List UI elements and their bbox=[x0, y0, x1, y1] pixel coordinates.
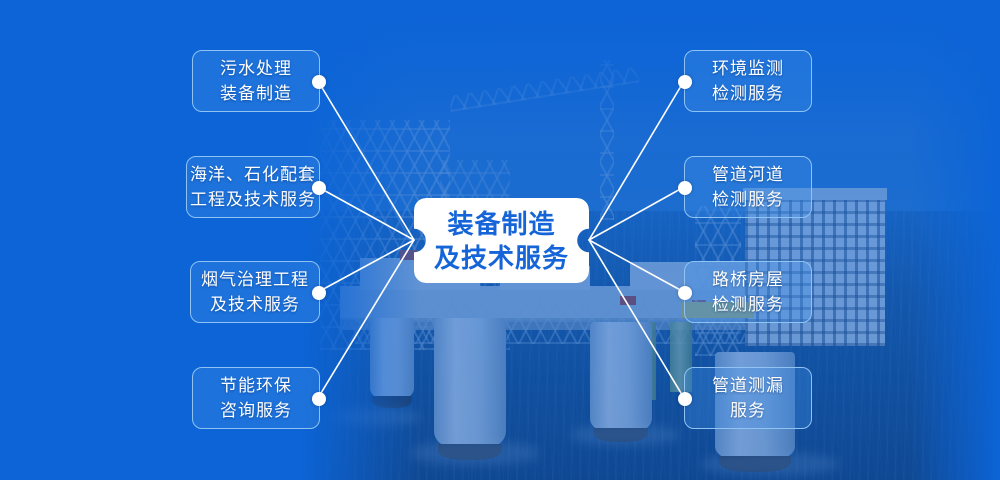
connector-knob-icon bbox=[678, 286, 692, 300]
center-label-line-2: 及技术服务 bbox=[434, 241, 569, 275]
node-label-line-2: 咨询服务 bbox=[220, 398, 292, 423]
connector-right-3 bbox=[589, 240, 684, 292]
connector-left-1 bbox=[318, 81, 414, 240]
node-label-line-1: 节能环保 bbox=[220, 373, 292, 398]
node-flue-gas-treatment[interactable]: 烟气治理工程 及技术服务 bbox=[190, 261, 320, 323]
infographic-stage: 污水处理 装备制造 海洋、石化配套 工程及技术服务 烟气治理工程 及技术服务 节… bbox=[0, 0, 1000, 480]
connector-left-2 bbox=[318, 187, 414, 240]
node-label-line-2: 检测服务 bbox=[712, 81, 784, 106]
node-wastewater-equipment[interactable]: 污水处理 装备制造 bbox=[192, 50, 320, 112]
node-label-line-1: 管道测漏 bbox=[712, 373, 784, 398]
node-label-line-2: 工程及技术服务 bbox=[190, 187, 316, 212]
connector-right-1 bbox=[589, 81, 684, 240]
node-pipeline-river-inspection[interactable]: 管道河道 检测服务 bbox=[684, 156, 812, 218]
center-node[interactable]: 装备制造 及技术服务 bbox=[414, 198, 589, 283]
node-bridge-building-inspection[interactable]: 路桥房屋 检测服务 bbox=[684, 261, 812, 323]
node-label-line-2: 检测服务 bbox=[712, 187, 784, 212]
node-label-line-1: 路桥房屋 bbox=[712, 267, 784, 292]
connector-left-4 bbox=[318, 240, 414, 398]
connector-knob-icon bbox=[312, 392, 326, 406]
node-label-line-1: 管道河道 bbox=[712, 162, 784, 187]
center-label-line-1: 装备制造 bbox=[447, 207, 555, 241]
center-node-text: 装备制造 及技术服务 bbox=[414, 198, 589, 283]
node-label-line-1: 环境监测 bbox=[712, 56, 784, 81]
connector-knob-icon bbox=[312, 75, 326, 89]
connector-knob-icon bbox=[312, 286, 326, 300]
connector-knob-icon bbox=[678, 75, 692, 89]
node-environmental-monitoring[interactable]: 环境监测 检测服务 bbox=[684, 50, 812, 112]
node-label-line-2: 检测服务 bbox=[712, 292, 784, 317]
node-label-line-1: 污水处理 bbox=[220, 56, 292, 81]
connector-right-4 bbox=[589, 240, 684, 398]
node-label-line-2: 装备制造 bbox=[220, 81, 292, 106]
node-label-line-1: 海洋、石化配套 bbox=[190, 162, 316, 187]
connector-knob-icon bbox=[678, 181, 692, 195]
node-pipeline-leak-detection[interactable]: 管道测漏 服务 bbox=[684, 367, 812, 429]
node-energy-saving-consulting[interactable]: 节能环保 咨询服务 bbox=[192, 367, 320, 429]
node-label-line-2: 及技术服务 bbox=[210, 292, 300, 317]
node-label-line-1: 烟气治理工程 bbox=[201, 267, 309, 292]
node-label-line-2: 服务 bbox=[730, 398, 766, 423]
connector-knob-icon bbox=[678, 392, 692, 406]
connector-knob-icon bbox=[312, 181, 326, 195]
node-marine-petrochemical[interactable]: 海洋、石化配套 工程及技术服务 bbox=[186, 156, 320, 218]
connector-left-3 bbox=[318, 240, 414, 292]
connector-right-2 bbox=[589, 187, 684, 240]
